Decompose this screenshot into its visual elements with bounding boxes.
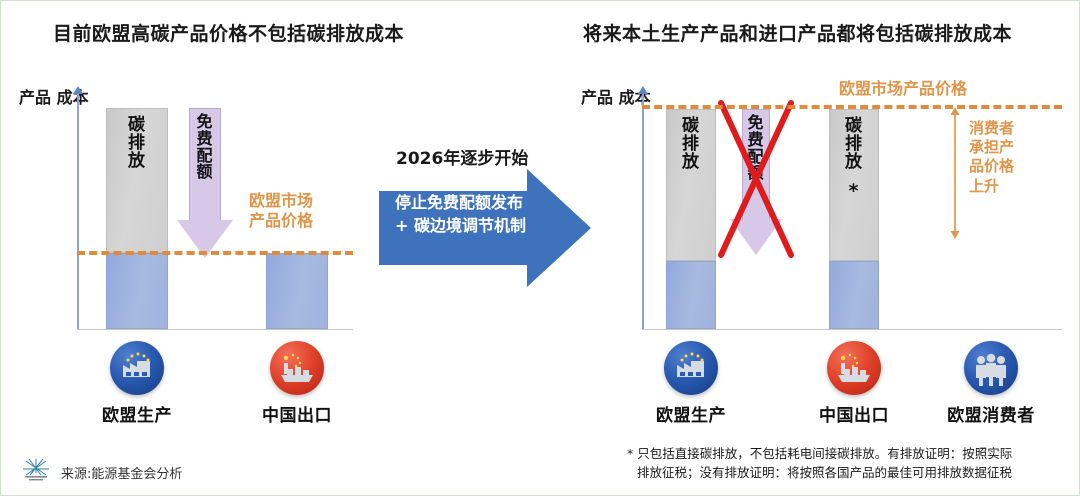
left-bar-1-carbon-label: 碳 排 放 bbox=[107, 117, 167, 171]
right-category-label-1: 欧盟生产 bbox=[639, 401, 743, 426]
ship-cn-icon-right bbox=[827, 341, 881, 395]
right-x-axis bbox=[642, 329, 1062, 330]
right-price-reference-line bbox=[642, 105, 1062, 109]
transition-timing-label: 2026年逐步开始 bbox=[396, 144, 528, 169]
right-bar-2-carbon-label: 碳 排 放 * bbox=[830, 118, 878, 201]
consumer-burden-note: 消费者 承担产 品价格 上升 bbox=[969, 119, 1014, 196]
right-bar-2-footnote-marker: * bbox=[830, 182, 878, 202]
right-panel-title: 将来本土生产产品和进口产品都将包括碳排放成本 bbox=[583, 19, 1012, 46]
factory-eu-icon-right bbox=[664, 341, 718, 395]
left-category-label-2: 中国出口 bbox=[245, 401, 349, 426]
left-price-line-label: 欧盟市场 产品价格 bbox=[249, 191, 313, 231]
cancel-cross-icon bbox=[715, 97, 797, 261]
right-bar-2-price-segment bbox=[829, 261, 879, 329]
starburst-logo bbox=[19, 457, 53, 483]
right-bar-1-carbon-segment: 碳 排 放 bbox=[666, 109, 716, 261]
left-y-axis-label: 产品 成本 bbox=[19, 89, 71, 107]
left-y-axis bbox=[77, 93, 79, 329]
right-y-axis-label: 产品 成本 bbox=[581, 89, 633, 107]
left-panel-title: 目前欧盟高碳产品价格不包括碳排放成本 bbox=[53, 19, 404, 46]
left-bar-2-price-segment bbox=[266, 253, 328, 329]
left-price-reference-line bbox=[77, 251, 353, 255]
footnote: * 只包括直接碳排放，不包括耗电间接碳排放。有排放证明：按照实际 排放征税；没有… bbox=[627, 444, 1012, 483]
ship-cn-icon bbox=[270, 341, 324, 395]
right-price-line-label: 欧盟市场产品价格 bbox=[839, 79, 967, 99]
right-bar-2-carbon-segment: 碳 排 放 * bbox=[829, 109, 879, 261]
right-y-axis bbox=[642, 93, 644, 329]
factory-eu-icon bbox=[110, 341, 164, 395]
left-bar-1-price-segment bbox=[106, 253, 168, 329]
people-eu-icon bbox=[964, 341, 1018, 395]
transition-action-text: 停止免费配额发布 + 碳边境调节机制 bbox=[395, 191, 526, 237]
right-bar-1-carbon-label: 碳 排 放 bbox=[667, 118, 715, 172]
left-bar-1-carbon-segment: 碳 排 放 bbox=[106, 108, 168, 253]
left-free-allocation-arrow: 免 费 配 额 bbox=[177, 108, 233, 258]
left-x-axis bbox=[77, 329, 353, 330]
right-bar-1-price-segment bbox=[666, 261, 716, 329]
right-category-label-3: 欧盟消费者 bbox=[939, 401, 1043, 426]
left-free-allocation-label: 免 费 配 额 bbox=[177, 114, 233, 181]
right-category-label-2: 中国出口 bbox=[802, 401, 906, 426]
left-category-label-1: 欧盟生产 bbox=[85, 401, 189, 426]
source-attribution: 来源:能源基金会分析 bbox=[61, 463, 182, 482]
consumer-span-arrow bbox=[947, 105, 963, 241]
infographic-root: 目前欧盟高碳产品价格不包括碳排放成本 产品 成本 碳 排 放 免 费 配 额 欧… bbox=[0, 0, 1080, 496]
